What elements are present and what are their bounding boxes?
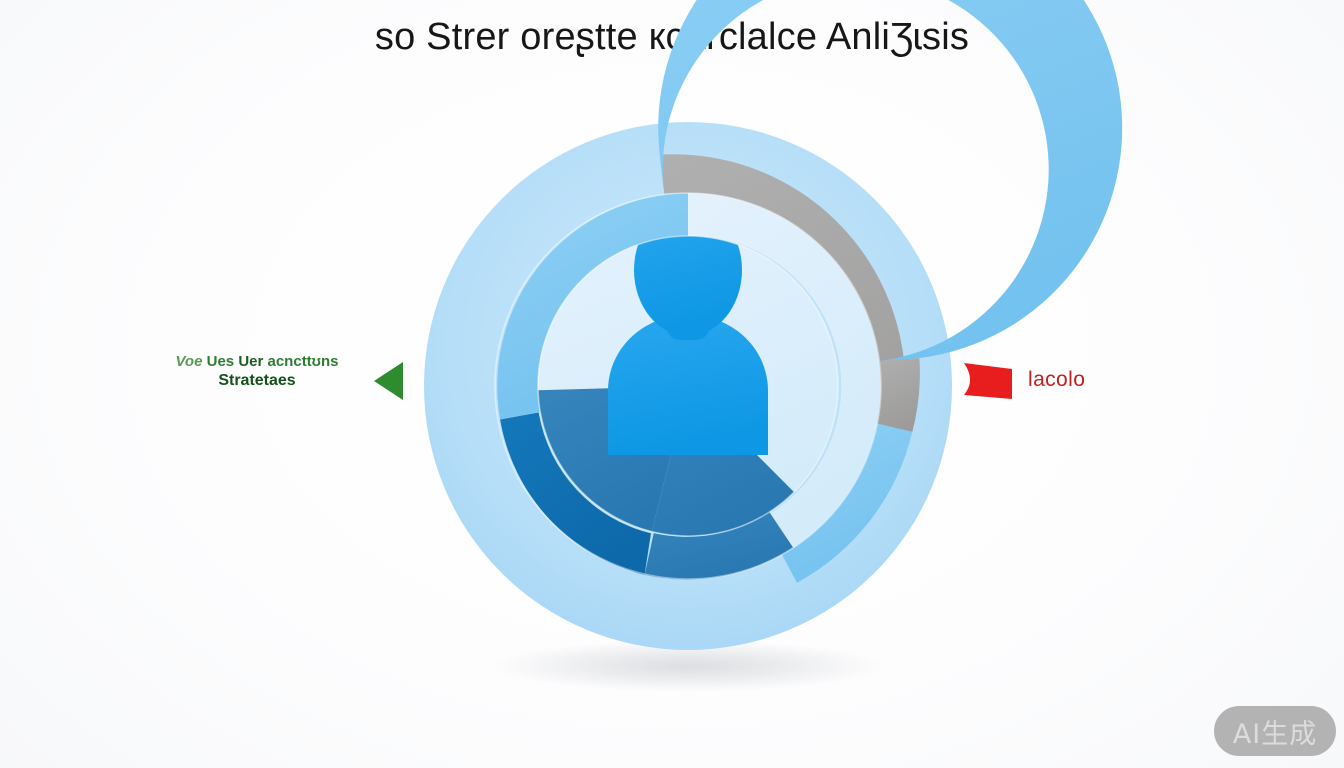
red-flag-marker-icon[interactable] — [962, 359, 1014, 401]
left-triangle-marker-icon[interactable] — [372, 360, 404, 402]
annotation-left-text: Voe Ues Uer acncttʊns Stratetaes — [162, 352, 352, 390]
donut-chart-figure — [412, 110, 964, 662]
annotation-left[interactable]: Voe Ues Uer acncttʊns Stratetaes — [168, 352, 404, 408]
annotation-right[interactable]: lacolo — [962, 356, 1162, 404]
annotation-left-tail: acncttʊns — [268, 353, 339, 370]
annotation-left-bold: Uer — [238, 353, 263, 370]
ai-generated-watermark-label: AI生成 — [1233, 712, 1317, 751]
annotation-left-mid: Ues — [207, 353, 235, 370]
annotation-left-prefix: Voe — [175, 353, 202, 370]
ai-generated-watermark: AI生成 — [1214, 706, 1336, 756]
annotation-left-line2: Stratetaes — [162, 371, 352, 390]
annotation-left-line1: Voe Ues Uer acncttʊns — [162, 352, 352, 371]
annotation-right-label: lacolo — [1028, 368, 1085, 392]
